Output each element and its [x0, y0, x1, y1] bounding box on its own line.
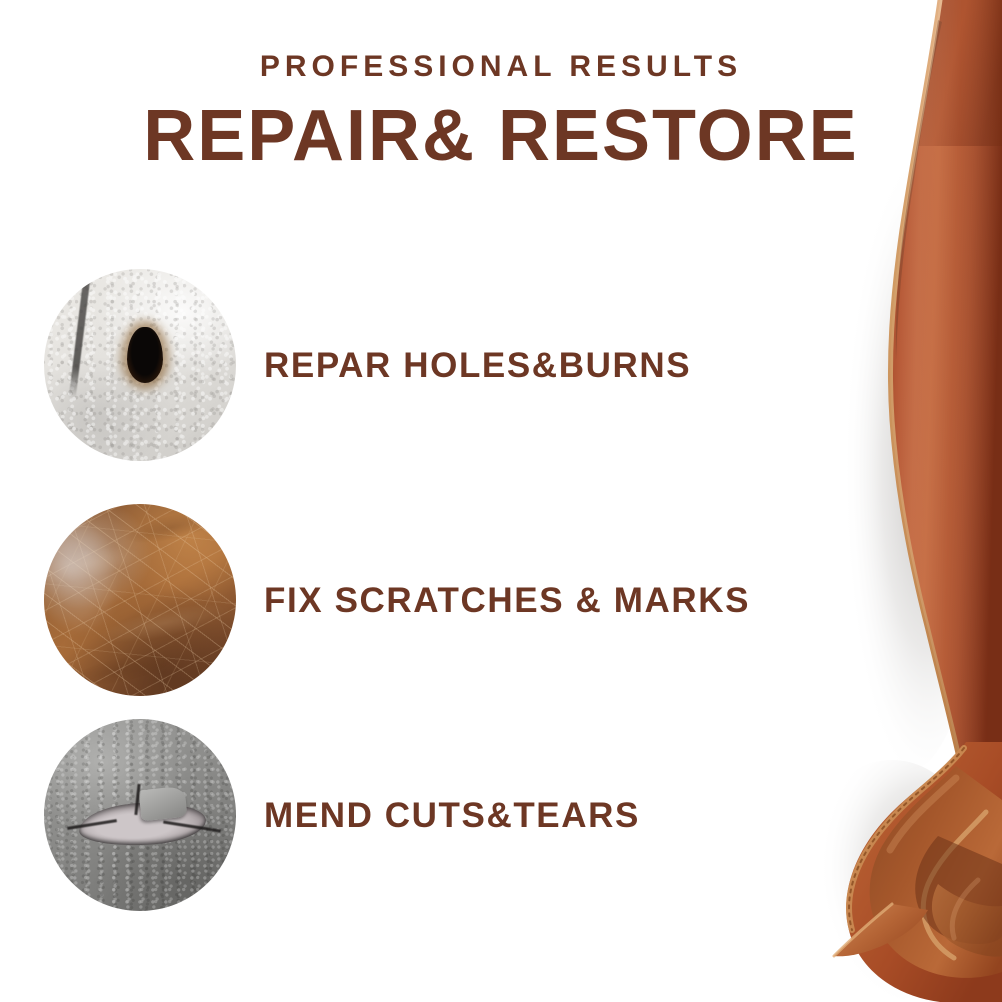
eyebrow-text: PROFESSIONAL RESULTS	[0, 52, 1002, 82]
page-title: REPAIR& RESTORE	[0, 100, 1002, 172]
feature-label-scratches-marks: FIX SCRATCHES & MARKS	[264, 583, 750, 618]
burn-hole-icon	[127, 327, 163, 383]
feature-row-cuts-tears: MEND CUTS&TEARS	[44, 719, 804, 911]
tear-flap	[139, 786, 188, 821]
feature-row-scratches-marks: FIX SCRATCHES & MARKS	[44, 504, 804, 696]
white-leather-burn-hole-image	[44, 269, 236, 461]
feature-row-holes-burns: REPAR HOLES&BURNS	[44, 269, 804, 461]
grey-leather-tear-image	[44, 719, 236, 911]
product-banner: PROFESSIONAL RESULTS REPAIR& RESTORE REP…	[0, 0, 1002, 1002]
feature-label-cuts-tears: MEND CUTS&TEARS	[264, 798, 640, 833]
feature-label-holes-burns: REPAR HOLES&BURNS	[264, 348, 691, 383]
brown-leather-scratches-image	[44, 504, 236, 696]
